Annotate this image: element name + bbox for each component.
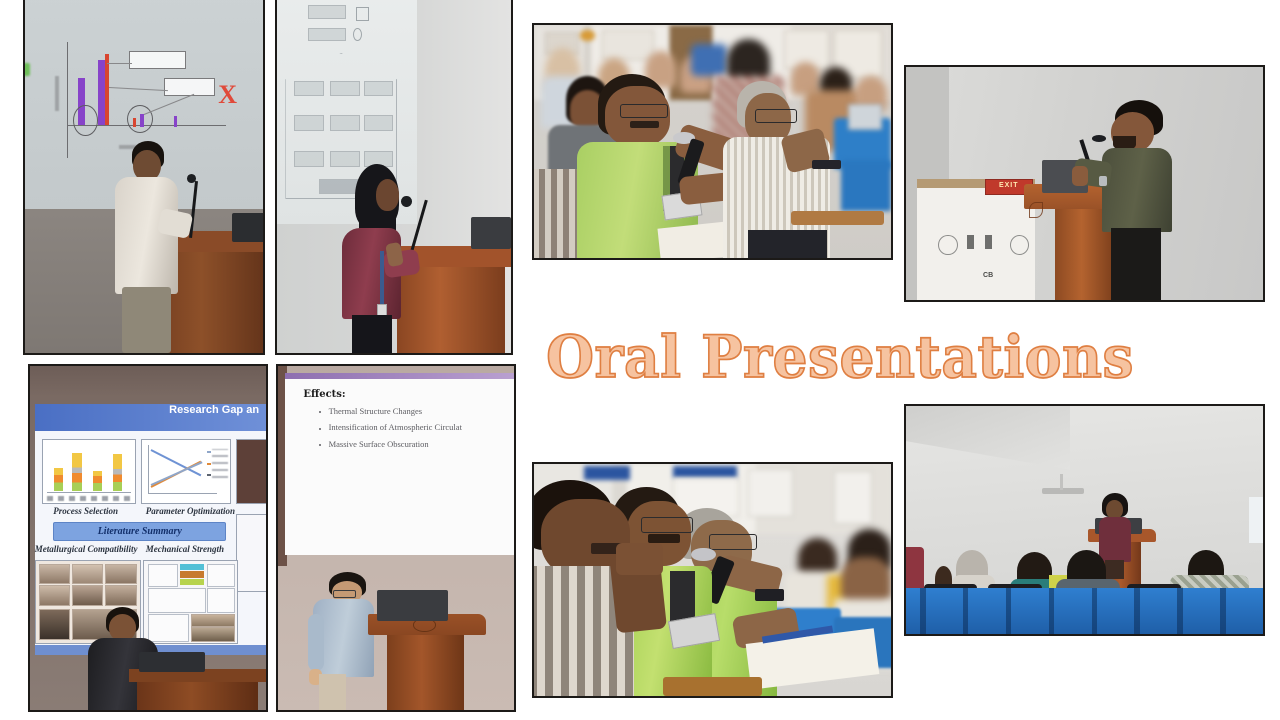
legend-swatch (207, 451, 211, 453)
hand (1072, 166, 1088, 186)
wall-poster (748, 469, 793, 517)
trousers (1111, 228, 1161, 300)
slide-icon (356, 7, 369, 20)
wooden-podium (129, 669, 266, 710)
chart-highlight-circle (127, 105, 154, 134)
panel-caption: Mechanical Strength (146, 544, 224, 554)
wall-mounted-speaker (1042, 488, 1085, 494)
wristwatch (812, 160, 841, 169)
slide-node (294, 81, 324, 97)
wall-poster-band (673, 466, 737, 478)
literature-summary-label: Literature Summary (98, 526, 182, 537)
micrograph (105, 585, 136, 605)
slide-node (330, 81, 360, 97)
photo2-scene (277, 0, 511, 353)
slide-icon (353, 28, 362, 41)
wristwatch (755, 589, 784, 601)
audience-trousers (748, 230, 827, 258)
callout-leader-line (144, 93, 195, 114)
chair-armrest (663, 677, 763, 696)
callout-leader-line (107, 63, 132, 64)
page-title: Oral Presentations (546, 322, 1134, 391)
chart-axis (47, 492, 130, 493)
chart-bar (174, 116, 177, 127)
photo6-scene: Effects: Thermal Structure Changes Inten… (278, 366, 514, 710)
slide-bullet: Intensification of Atmospheric Circulat (329, 422, 462, 432)
slide-node (364, 81, 393, 97)
head (1106, 500, 1123, 519)
panel-caption: Process Selection (53, 506, 118, 516)
chart-callout-box (129, 51, 185, 69)
micrograph (105, 564, 136, 584)
photo-research-gap-slide-presentation: Research Gap an (28, 364, 268, 712)
eyeglasses (620, 104, 668, 118)
cabinet-slot (967, 235, 974, 249)
result-chart (207, 588, 235, 613)
chart-axis (148, 493, 217, 494)
slide-bullet: Thermal Structure Changes (329, 406, 422, 416)
micrograph (39, 609, 70, 641)
slide-node (364, 115, 393, 131)
trousers (352, 315, 392, 353)
chart-bar (93, 471, 102, 492)
chart-bar (54, 468, 63, 492)
photo-auditorium-wide-view (904, 404, 1265, 636)
chart-bar (113, 454, 122, 492)
eyeglasses (333, 590, 356, 598)
eyeglasses (709, 534, 757, 550)
side-panel (236, 514, 266, 591)
chair-armrest (791, 211, 884, 225)
photo-effects-slide-presentation: Effects: Thermal Structure Changes Inten… (276, 364, 516, 712)
micrograph (39, 564, 70, 584)
chart-bar (98, 60, 104, 125)
laptop (139, 652, 205, 673)
cabinet-slot (985, 235, 992, 249)
presenter (340, 164, 424, 353)
trousers (122, 287, 171, 353)
result-bar (180, 564, 204, 571)
chart-legend (47, 496, 130, 501)
wall-poster-band (584, 466, 630, 480)
slide-node (330, 115, 360, 131)
slide-title: Research Gap an (169, 404, 259, 416)
chart-axis (148, 445, 149, 493)
trousers (319, 674, 346, 710)
laptop (377, 590, 448, 621)
presentation-slide: X (0, 0, 1280, 720)
line-chart-panel (141, 439, 231, 504)
laptop (471, 217, 511, 249)
legend-swatch (207, 474, 211, 476)
moustache (648, 534, 680, 543)
slide-bullet: Massive Surface Obscuration (329, 439, 429, 449)
photo-speaker-at-podium-with-chart-slide: X (23, 0, 265, 355)
arm (308, 614, 324, 672)
photo1-scene: X (25, 0, 263, 353)
photo8-scene (906, 406, 1263, 634)
legend-text (212, 449, 228, 478)
olive-shirt (1102, 148, 1172, 232)
slide-title-block: Oral Presentations (560, 318, 1120, 394)
panel-caption: Parameter Optimization (146, 506, 235, 516)
photo-audience-question-bottom-row (532, 462, 893, 698)
micrograph (72, 564, 103, 584)
laptop-screen-background (848, 104, 882, 129)
photo7-scene (534, 464, 891, 696)
result-micrograph (191, 627, 236, 642)
eyeglasses (641, 517, 693, 533)
chart-y-axis-label (55, 76, 59, 112)
presenter (111, 141, 192, 353)
wall-poster-accent (580, 30, 594, 42)
result-micrograph (191, 614, 236, 628)
panel-caption: Metallurgical Compatibility (35, 544, 138, 554)
chart-callout-box (164, 78, 216, 96)
head (109, 614, 136, 641)
lanyard (380, 251, 384, 308)
result-chart (148, 564, 178, 588)
photo5-scene: Research Gap an (30, 366, 266, 710)
chart-bar (105, 54, 109, 125)
result-bar (180, 571, 204, 578)
slide-top-band (285, 373, 514, 379)
photo3-scene (534, 25, 891, 258)
bullet-dot (319, 411, 321, 413)
moustache (630, 121, 659, 128)
cabinet-label: CB (974, 272, 1003, 288)
result-bar (180, 579, 204, 586)
photo-audience-question-green-shirt (532, 23, 893, 260)
micrograph (39, 585, 70, 605)
audience-body-back (691, 44, 727, 77)
literature-summary-banner: Literature Summary (53, 522, 226, 542)
bar-chart-panel (42, 439, 137, 504)
callout-leader-line (109, 87, 168, 91)
bullet-dot (319, 444, 321, 446)
legend-swatch (207, 463, 211, 465)
blue-seat-row (906, 588, 1263, 634)
maroon-top (1099, 517, 1131, 562)
photo-female-speaker-at-podium (275, 0, 513, 355)
chart-y-axis (67, 42, 68, 158)
photo-speaker-olive-shirt-podium: CB EXIT (904, 65, 1265, 302)
slide-node (308, 28, 347, 41)
presenter (1095, 100, 1184, 300)
result-chart (207, 564, 235, 588)
photo4-scene: CB EXIT (906, 67, 1263, 300)
green-laser-mark (25, 63, 30, 76)
micrograph (72, 585, 103, 605)
slide-title-bar: Research Gap an (35, 404, 266, 432)
slide-node (294, 115, 324, 131)
wall-poster (602, 30, 654, 60)
wristwatch (1099, 176, 1107, 186)
shirt (115, 177, 178, 293)
projected-slide: Effects: Thermal Structure Changes Inten… (285, 373, 514, 555)
podium-emblem (1029, 202, 1043, 218)
projection-screen-edge (1249, 497, 1263, 543)
slide-node (308, 5, 347, 18)
wall-poster (834, 471, 872, 524)
laptop (232, 213, 263, 242)
chart-highlight-circle (73, 105, 97, 136)
auditorium-seat (841, 160, 891, 211)
wooden-podium (368, 614, 486, 710)
speaker-bracket (1060, 474, 1064, 490)
eyeglasses (755, 109, 796, 123)
audience-hand (616, 543, 662, 575)
slide-node (294, 151, 324, 167)
chart-bar (72, 453, 81, 492)
red-x-mark: X (218, 80, 237, 110)
bullet-dot (319, 428, 321, 430)
trousers (1105, 560, 1124, 579)
head (376, 179, 400, 211)
side-panel (236, 439, 266, 504)
slide-heading: Effects: (303, 389, 345, 400)
